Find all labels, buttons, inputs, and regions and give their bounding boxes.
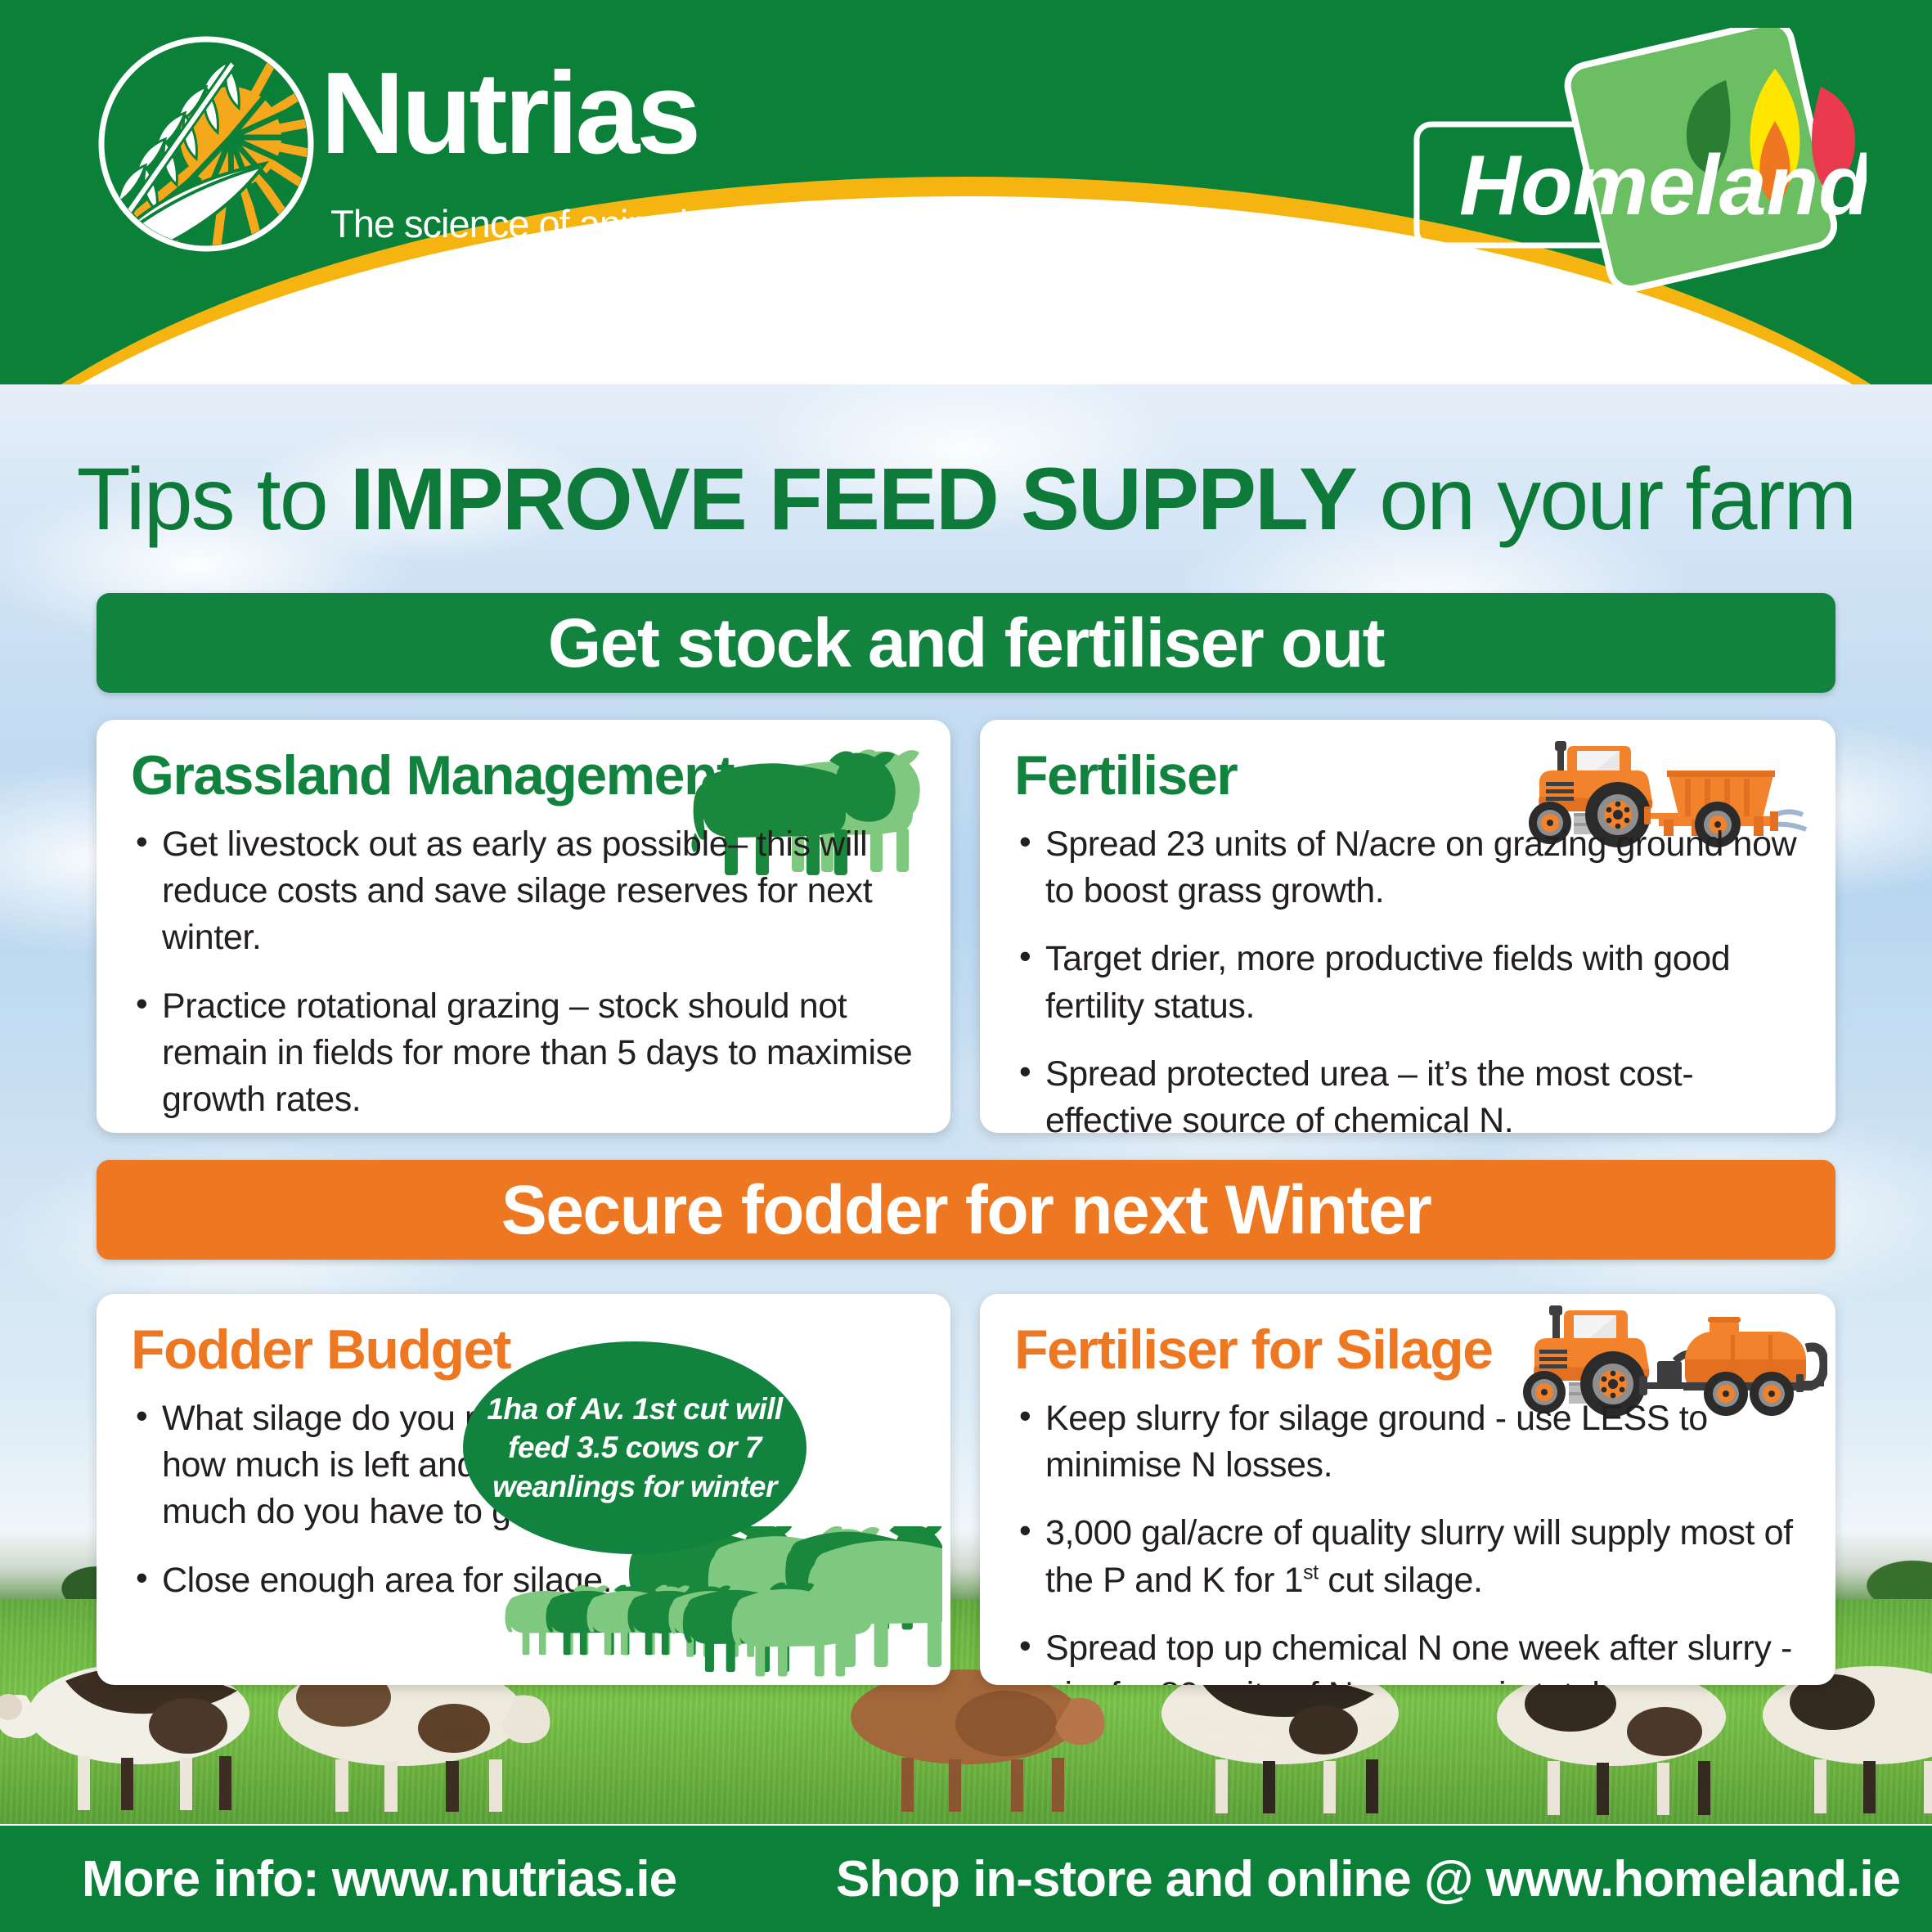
homeland-wordmark: Homeland	[1459, 138, 1867, 233]
bullet-text-tail: cut silage.	[1319, 1561, 1483, 1600]
header-bar: Nutrias The science of animal nutrition …	[0, 0, 1932, 384]
bullet-item: Get livestock out as early as possible– …	[131, 821, 916, 962]
bullet-item: Practice rotational grazing – stock shou…	[131, 983, 916, 1124]
bullet-item: Spread top up chemical N one week after …	[1014, 1625, 1801, 1685]
bullet-superscript: st	[1303, 1561, 1319, 1584]
bullet-list-fertiliser-for-silage: Keep slurry for silage ground - use LESS…	[1014, 1395, 1801, 1685]
page-title-part3: on your farm	[1356, 449, 1855, 548]
page-title-part1: Tips to	[77, 449, 350, 548]
bullet-item: Target drier, more productive fields wit…	[1014, 936, 1801, 1029]
bullet-list-fertiliser: Spread 23 units of N/acre on grazing gro…	[1014, 821, 1801, 1133]
page-title-emphasis: IMPROVE FEED SUPPLY	[350, 449, 1356, 548]
nutrias-logo-icon	[97, 34, 316, 254]
homeland-logo-icon: Homeland	[1409, 28, 1867, 298]
bullet-text: Spread top up chemical N one week after …	[1045, 1629, 1792, 1685]
bullet-list-grassland-management: Get livestock out as early as possible– …	[131, 821, 916, 1133]
bullet-item: Spread 23 units of N/acre on grazing gro…	[1014, 821, 1801, 914]
card-fertiliser: Fertiliser	[980, 720, 1835, 1133]
bullet-text: Keep slurry for silage ground - use LESS…	[1045, 1399, 1708, 1485]
section-banner-secure-fodder-for-next-winter: Secure fodder for next Winter	[97, 1160, 1835, 1260]
footer-nutrias-url[interactable]: More info: www.nutrias.ie	[82, 1850, 676, 1908]
page-title: Tips to IMPROVE FEED SUPPLY on your farm	[0, 450, 1932, 549]
card-fertiliser-for-silage: Fertiliser for Silage	[980, 1294, 1835, 1685]
footer-bar: More info: www.nutrias.ie Shop in-store …	[0, 1826, 1932, 1932]
callout-ellipse-1ha-yield: 1ha of Av. 1st cut will feed 3.5 cows or…	[463, 1341, 806, 1554]
cow-herd-icon	[501, 1526, 942, 1685]
bullet-item: 3,000 gal/acre of quality slurry will su…	[1014, 1510, 1801, 1603]
nutrias-tagline: The science of animal nutrition	[330, 204, 826, 243]
footer-homeland-url[interactable]: Shop in-store and online @ www.homeland.…	[836, 1850, 1900, 1908]
bullet-item: Spread protected urea – it’s the most co…	[1014, 1051, 1801, 1133]
nutrias-wordmark: Nutrias	[321, 56, 698, 172]
bullet-item: Keep slurry for silage ground - use LESS…	[1014, 1395, 1801, 1489]
section-banner-get-stock-and-fertiliser-out: Get stock and fertiliser out	[97, 593, 1835, 693]
card-grassland-management: Grassland Management	[97, 720, 950, 1133]
